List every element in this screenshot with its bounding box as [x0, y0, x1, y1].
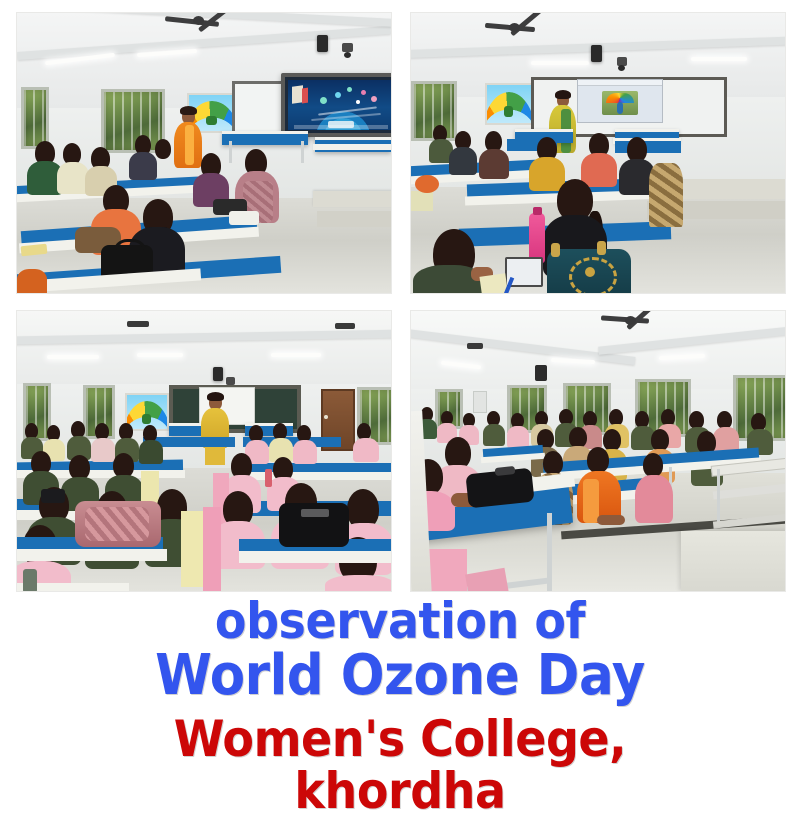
- photo-top-left: [16, 12, 392, 294]
- title-line-1: observation of: [32, 596, 768, 646]
- photo-collage: [16, 12, 786, 592]
- title-line-3: Women's College,: [32, 714, 768, 764]
- title-line-4: khordha: [32, 766, 768, 816]
- photo-bottom-right: [410, 310, 786, 592]
- photo-top-right: [410, 12, 786, 294]
- photo-bottom-left: [16, 310, 392, 592]
- poster-title-block: observation of World Ozone Day Women's C…: [0, 596, 800, 816]
- title-line-2: World Ozone Day: [32, 648, 768, 704]
- ozone-day-poster: observation of World Ozone Day Women's C…: [0, 0, 800, 800]
